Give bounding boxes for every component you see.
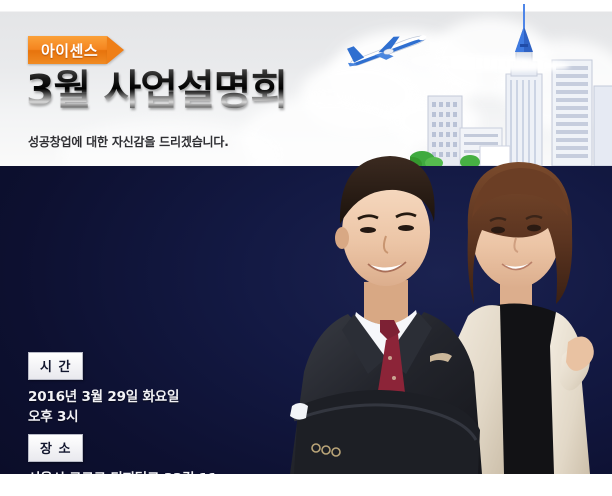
brand-badge: 아이센스 [28, 36, 124, 64]
two-business-people-photo [268, 106, 612, 474]
info-line: 2016년 3월 29일 화요일 [28, 388, 179, 408]
info-line: 오후 3시 [28, 408, 179, 428]
info-label-place: 장 소 [28, 434, 83, 462]
info-lines-time: 2016년 3월 29일 화요일 오후 3시 [28, 388, 179, 427]
bottom-white-strip [0, 474, 612, 496]
navy-background: 시 간 2016년 3월 29일 화요일 오후 3시 장 소 서울시 구로구 디… [0, 166, 612, 474]
brand-badge-arrow-icon [107, 36, 124, 64]
info-block-time: 시 간 2016년 3월 29일 화요일 오후 3시 [28, 352, 179, 427]
page-subtitle: 성공창업에 대한 자신감을 드리겠습니다. [28, 133, 229, 150]
info-label-time: 시 간 [28, 352, 83, 380]
page-title: 3월 사업설명회 [26, 68, 287, 114]
brand-badge-body: 아이센스 [28, 36, 107, 64]
promotional-banner: 시 간 2016년 3월 29일 화요일 오후 3시 장 소 서울시 구로구 디… [0, 0, 612, 496]
brand-badge-label: 아이센스 [41, 40, 98, 61]
